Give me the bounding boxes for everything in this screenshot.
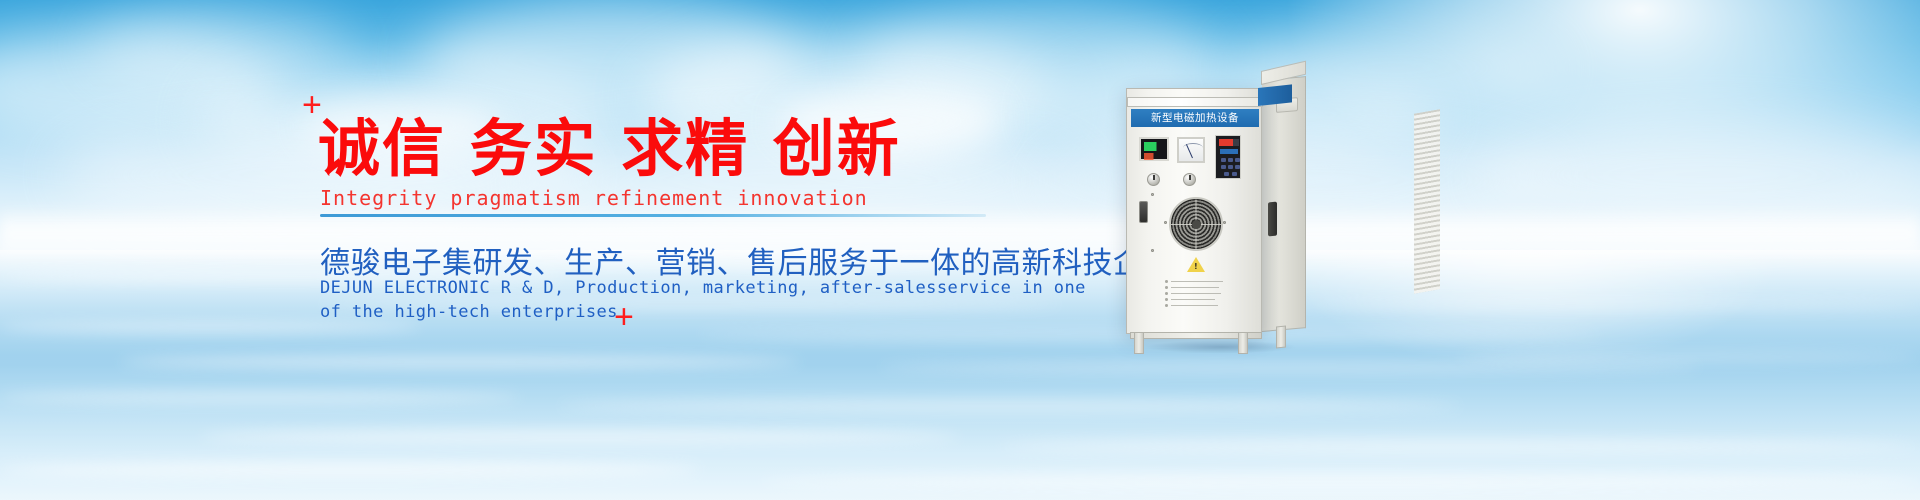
product-machine-image: 新型电磁加热设备 [1126, 74, 1306, 346]
control-keypad [1215, 135, 1241, 179]
display-segment-green [1144, 142, 1164, 151]
machine-leg [1276, 325, 1286, 348]
machine-door-handle [1268, 202, 1277, 237]
keypad-button [1235, 158, 1240, 162]
machine-side-vents [1414, 109, 1440, 294]
machine-top-edge [1127, 97, 1263, 107]
keypad-button [1221, 158, 1226, 162]
machine-label-side-wrap [1258, 84, 1292, 106]
fan-screw [1151, 193, 1154, 196]
divider-rule [320, 214, 986, 217]
machine-leg [1134, 332, 1144, 354]
toggle-switch [1139, 201, 1148, 223]
water-ripple [560, 400, 1460, 412]
keypad-button [1228, 165, 1233, 169]
display-segment-red [1144, 153, 1164, 160]
tagline-chinese: 德骏电子集研发、生产、营销、售后服务于一体的高新科技企业 [320, 238, 1174, 282]
keypad-blue-bar [1220, 149, 1238, 154]
fan-screw [1164, 221, 1167, 224]
spec-line [1171, 287, 1219, 288]
spec-line [1171, 305, 1218, 306]
spec-line [1171, 299, 1215, 300]
spec-bullet [1165, 298, 1168, 301]
spec-bullet [1165, 280, 1168, 283]
headline-chinese: 诚信 务实 求精 创新 [318, 118, 901, 180]
control-knob [1183, 173, 1196, 186]
water-ripple [0, 392, 520, 403]
headline-english: Integrity pragmatism refinement innovati… [320, 186, 868, 210]
water-ripple [1460, 352, 1920, 362]
tagline-english-line-1: DEJUN ELECTRONIC R & D, Production, mark… [320, 278, 1086, 298]
hero-banner: + + 诚信 务实 求精 创新 Integrity pragmatism ref… [0, 0, 1920, 500]
water-ripple [1000, 440, 1920, 453]
spec-plate [1171, 279, 1225, 309]
analog-gauge [1177, 137, 1205, 163]
machine-brand-label: 新型电磁加热设备 [1131, 109, 1259, 127]
machine-legs [1126, 332, 1306, 366]
fan-grille-icon [1169, 197, 1223, 251]
machine-leg [1238, 332, 1248, 354]
machine-front-body: 新型电磁加热设备 [1126, 88, 1262, 334]
spec-bullet [1165, 292, 1168, 295]
warning-triangle-icon [1187, 257, 1205, 272]
water-ripple [0, 322, 420, 332]
spec-bullet [1165, 304, 1168, 307]
water-ripple [760, 474, 1920, 489]
fan-screw [1223, 221, 1226, 224]
spec-line [1171, 281, 1223, 282]
spec-line [1171, 293, 1221, 294]
keypad-red-bar [1219, 139, 1239, 146]
water-ripple [120, 356, 800, 368]
fan-screw [1151, 249, 1154, 252]
keypad-button [1228, 158, 1233, 162]
keypad-button [1221, 165, 1226, 169]
keypad-button [1224, 172, 1229, 176]
tagline-english-line-2: of the high-tech enterprises [320, 302, 618, 322]
water-ripple [200, 430, 960, 444]
knob-indicator [1153, 175, 1155, 180]
keypad-button [1235, 165, 1240, 169]
water-ripple [1300, 300, 1920, 309]
knob-indicator [1189, 175, 1191, 180]
spec-bullet [1165, 286, 1168, 289]
fan-hub [1192, 220, 1201, 229]
water-ripple [0, 462, 700, 478]
control-knob [1147, 173, 1160, 186]
digital-display [1139, 137, 1169, 161]
keypad-button [1232, 172, 1237, 176]
